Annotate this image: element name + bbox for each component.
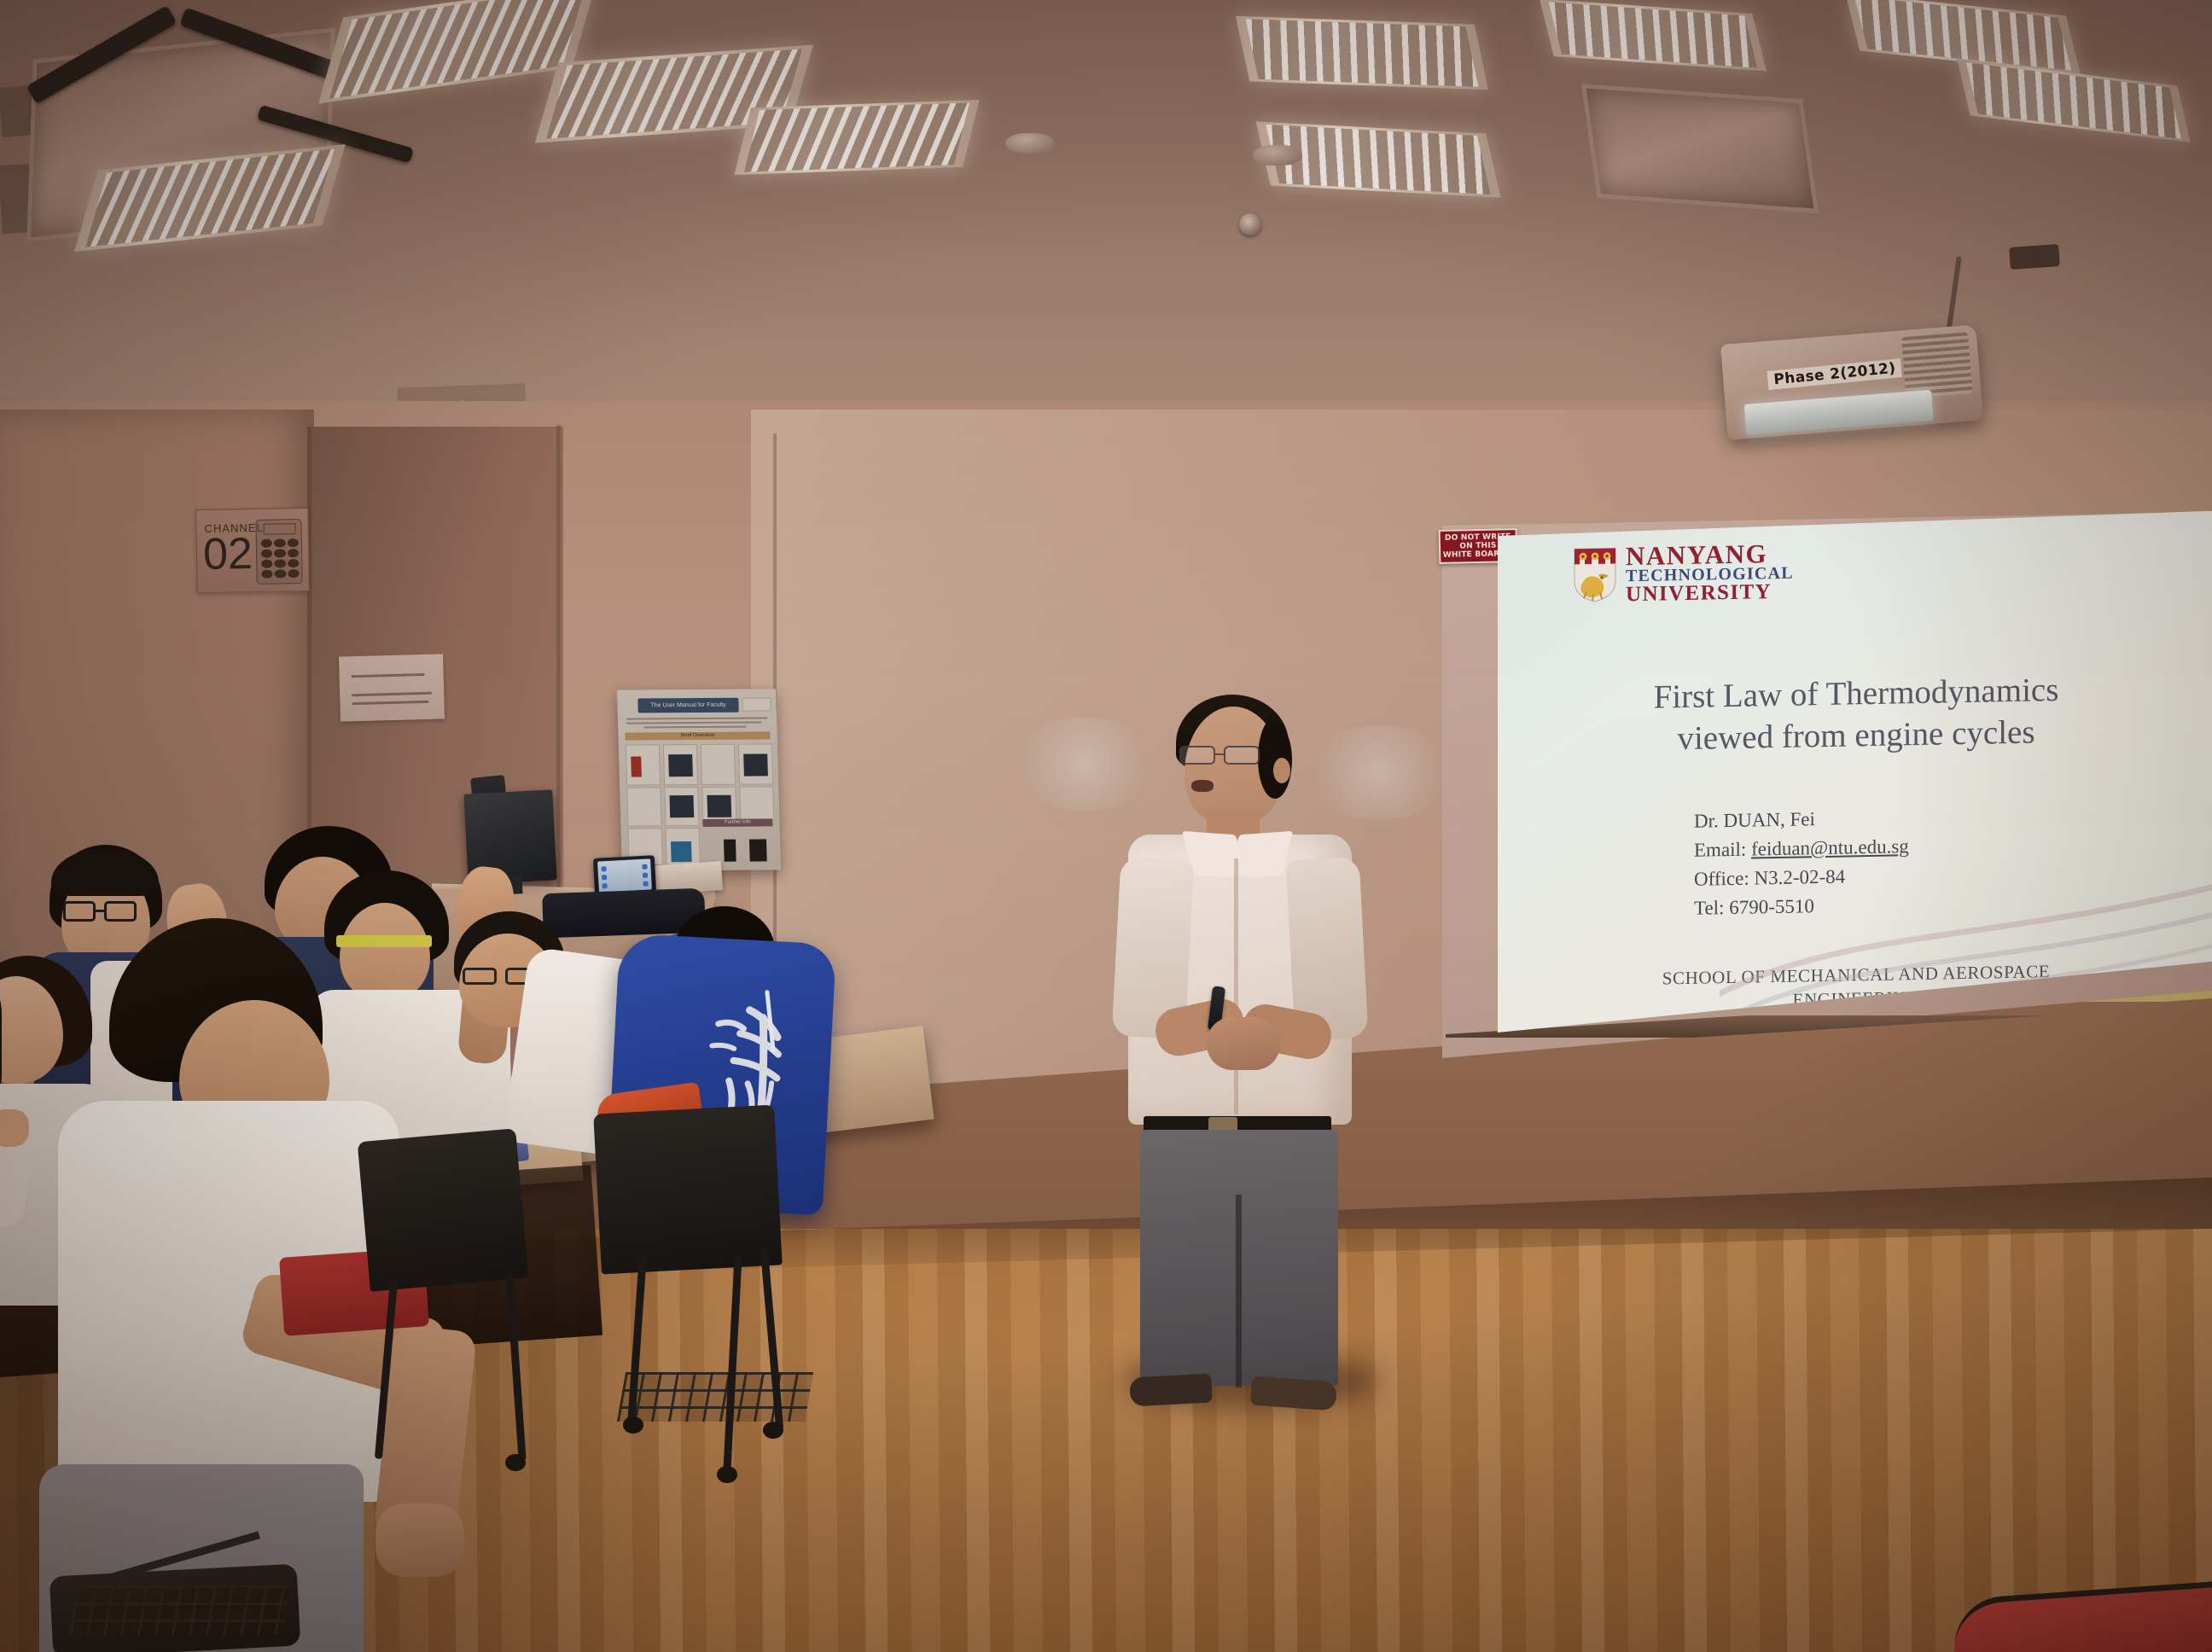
- poster-thumbnail: [669, 795, 694, 817]
- poster-abstract-line: [626, 717, 767, 719]
- projected-slide: NANYANG TECHNOLOGICAL UNIVERSITY First L…: [1498, 511, 2212, 1032]
- presenter-trouser-seam: [1236, 1195, 1242, 1387]
- poster-thumbnail: [743, 753, 768, 776]
- air-conditioner-cassette: [1581, 84, 1819, 213]
- classroom-photo: Phase 2(2012) DO NOT WRITE ON THIS WHITE…: [0, 0, 2212, 1652]
- smoke-detector-icon: [1005, 133, 1055, 154]
- ntu-crest-icon: [1573, 546, 1617, 603]
- ceiling-light-troffer: [1236, 16, 1488, 90]
- poster-section-band: Brief Overview: [625, 731, 770, 740]
- classroom-chair[interactable]: [358, 1128, 529, 1292]
- presenter-shoe-left: [1129, 1374, 1213, 1407]
- classroom-chair[interactable]: [593, 1105, 783, 1275]
- keypad-icon: [255, 519, 302, 585]
- poster-header-cell: [742, 697, 771, 711]
- poster-cell: [626, 787, 661, 826]
- projector-ceiling-mount: [2009, 244, 2060, 270]
- presenter-hands: [1207, 1017, 1280, 1070]
- presenter-mouth: [1191, 780, 1214, 792]
- wall-poster: The User Manual for Faculty Brief Overvi…: [617, 689, 781, 870]
- chair-under-basket: [617, 1372, 813, 1422]
- poster-section-label: Brief Overview: [625, 731, 770, 740]
- ntu-logo: NANYANG TECHNOLOGICAL UNIVERSITY: [1573, 541, 1794, 606]
- poster-thumbnail: [707, 795, 732, 817]
- presenter-shoe-right: [1250, 1376, 1337, 1411]
- poster-thumbnail: [671, 841, 692, 862]
- sprinkler-head-icon: [1239, 213, 1261, 236]
- slide-title: First Law of Thermodynamics viewed from …: [1498, 666, 2212, 763]
- poster-cell: [701, 744, 736, 785]
- poster-thumbnail: [749, 839, 767, 861]
- chair-caster: [505, 1454, 526, 1471]
- ceiling-light-troffer: [1540, 0, 1767, 71]
- presenter: [1106, 683, 1396, 1391]
- poster-thumbnail: [724, 840, 736, 862]
- projector-vent-icon: [1901, 332, 1972, 398]
- notice-text-line: [352, 701, 428, 705]
- poster-title-band: The User Manual for Faculty: [637, 698, 738, 713]
- projector-label: Phase 2(2012): [1767, 358, 1903, 390]
- poster-footer-label: Further info: [702, 818, 772, 827]
- channel-number: 02: [203, 532, 253, 577]
- poster-thumbnail: [668, 754, 693, 777]
- chair-caster: [717, 1466, 737, 1483]
- poster-abstract-line: [626, 722, 761, 724]
- notice-text-line: [352, 692, 432, 696]
- ceiling-light-troffer: [734, 100, 979, 175]
- poster-title: The User Manual for Faculty: [637, 698, 738, 713]
- ntu-name-line3: UNIVERSITY: [1626, 582, 1794, 605]
- wall-notice-sign: [339, 654, 445, 721]
- chair-caster: [623, 1416, 643, 1434]
- student-hand-right: [375, 1504, 464, 1577]
- glasses-icon: [1179, 746, 1280, 766]
- presenter-shirt-placket: [1234, 858, 1238, 1114]
- chair-under-basket: [69, 1585, 291, 1635]
- presenter-name: Dr. DUAN, Fei: [1694, 803, 1909, 836]
- smoke-detector-icon: [1253, 145, 1302, 166]
- poster-footer-band: Further info: [702, 818, 772, 827]
- notice-text-line: [352, 673, 425, 678]
- poster-thumbnail: [631, 756, 642, 777]
- chair-caster: [763, 1422, 783, 1439]
- projector: Phase 2(2012): [1720, 324, 1983, 439]
- poster-abstract-line: [643, 726, 746, 729]
- channel-sign: CHANNEL 02: [195, 508, 310, 593]
- student-hair-fringe: [51, 848, 159, 896]
